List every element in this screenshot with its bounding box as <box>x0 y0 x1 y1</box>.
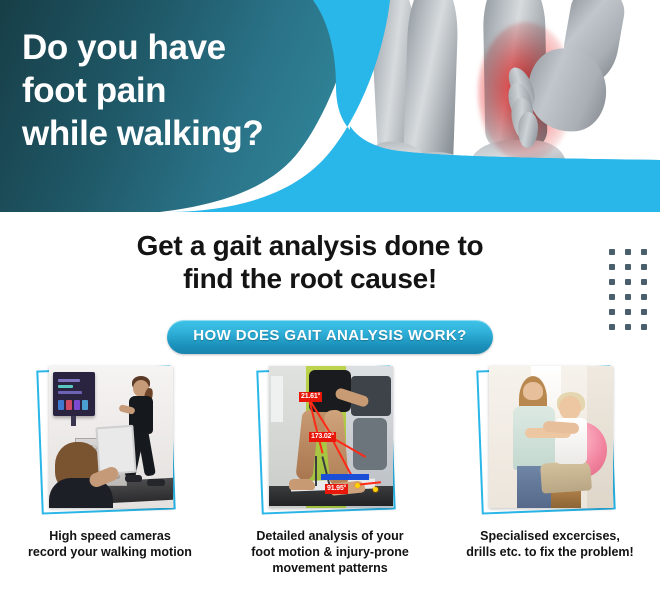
card-photo-detailed-analysis: 21.61° 173.02° 91.95° <box>269 366 393 508</box>
grid-dot <box>609 264 615 270</box>
grid-dot <box>625 279 631 285</box>
grid-dot <box>625 264 631 270</box>
grid-dot <box>609 309 615 315</box>
caption-line: Detailed analysis of your <box>228 528 432 544</box>
grid-dot <box>641 309 647 315</box>
marker-node <box>373 487 378 492</box>
caption-line: record your walking motion <box>8 544 212 560</box>
grid-dot <box>641 264 647 270</box>
grid-dot <box>609 279 615 285</box>
how-does-gait-analysis-work-button[interactable]: HOW DOES GAIT ANALYSIS WORK? <box>167 320 492 354</box>
grid-dot <box>641 279 647 285</box>
subject-foot-back <box>289 479 315 490</box>
card-caption: Specialised excercises, drills etc. to f… <box>440 528 660 560</box>
headline-line-2: find the root cause! <box>60 263 560 296</box>
monitor-screen <box>53 372 95 416</box>
grid-dot <box>609 294 615 300</box>
measurement-bar <box>321 474 369 480</box>
card-image-frame: 21.61° 173.02° 91.95° <box>263 366 397 514</box>
grid-dot <box>625 324 631 330</box>
grid-dot <box>625 294 631 300</box>
page-headline: Get a gait analysis done to find the roo… <box>60 230 560 296</box>
grid-dot <box>609 249 615 255</box>
therapist-face <box>523 382 543 400</box>
grid-dot <box>641 249 647 255</box>
cta-container: HOW DOES GAIT ANALYSIS WORK? <box>0 320 660 354</box>
therapist-coat <box>513 406 555 470</box>
grid-dot <box>641 324 647 330</box>
walker-shoe <box>147 479 165 486</box>
marker-node <box>355 483 360 488</box>
grid-dot <box>609 324 615 330</box>
card-photo-high-speed-cameras <box>49 366 173 508</box>
card-caption: Detailed analysis of your foot motion & … <box>220 528 440 576</box>
hero-title-line-2: foot pain <box>22 69 352 112</box>
patient-legs <box>540 460 592 493</box>
caption-line: drills etc. to fix the problem! <box>448 544 652 560</box>
grid-dot <box>625 249 631 255</box>
caption-line: movement patterns <box>228 560 432 576</box>
light-strip <box>271 376 283 422</box>
feature-cards: High speed cameras record your walking m… <box>0 366 660 576</box>
angle-label: 91.95° <box>325 484 348 494</box>
gait-analysis-promo-page: Do you have foot pain while walking? Get… <box>0 0 660 595</box>
patient-head <box>559 396 581 420</box>
feature-card-exercises: Specialised excercises, drills etc. to f… <box>440 366 660 576</box>
hero-title-line-1: Do you have <box>22 26 352 69</box>
card-image-frame <box>483 366 617 514</box>
headline-line-1: Get a gait analysis done to <box>60 230 560 263</box>
grid-dot <box>641 294 647 300</box>
equipment-side <box>353 418 387 470</box>
grid-dot <box>625 309 631 315</box>
feature-card-cameras: High speed cameras record your walking m… <box>0 366 220 576</box>
hero-title: Do you have foot pain while walking? <box>22 26 352 155</box>
caption-line: foot motion & injury-prone <box>228 544 432 560</box>
dot-grid-decoration <box>609 249 649 332</box>
card-caption: High speed cameras record your walking m… <box>0 528 220 560</box>
hero-banner: Do you have foot pain while walking? <box>0 0 660 226</box>
card-photo-specialised-exercises <box>489 366 613 508</box>
hero-title-line-3: while walking? <box>22 112 352 155</box>
angle-label: 21.61° <box>299 392 322 402</box>
caption-line: High speed cameras <box>8 528 212 544</box>
walker-shoe <box>125 475 142 482</box>
card-image-frame <box>43 366 177 514</box>
angle-label: 173.02° <box>309 432 336 442</box>
monitor-stand <box>71 416 76 426</box>
feature-card-analysis: 21.61° 173.02° 91.95° Detailed analysis … <box>220 366 440 576</box>
caption-line: Specialised excercises, <box>448 528 652 544</box>
